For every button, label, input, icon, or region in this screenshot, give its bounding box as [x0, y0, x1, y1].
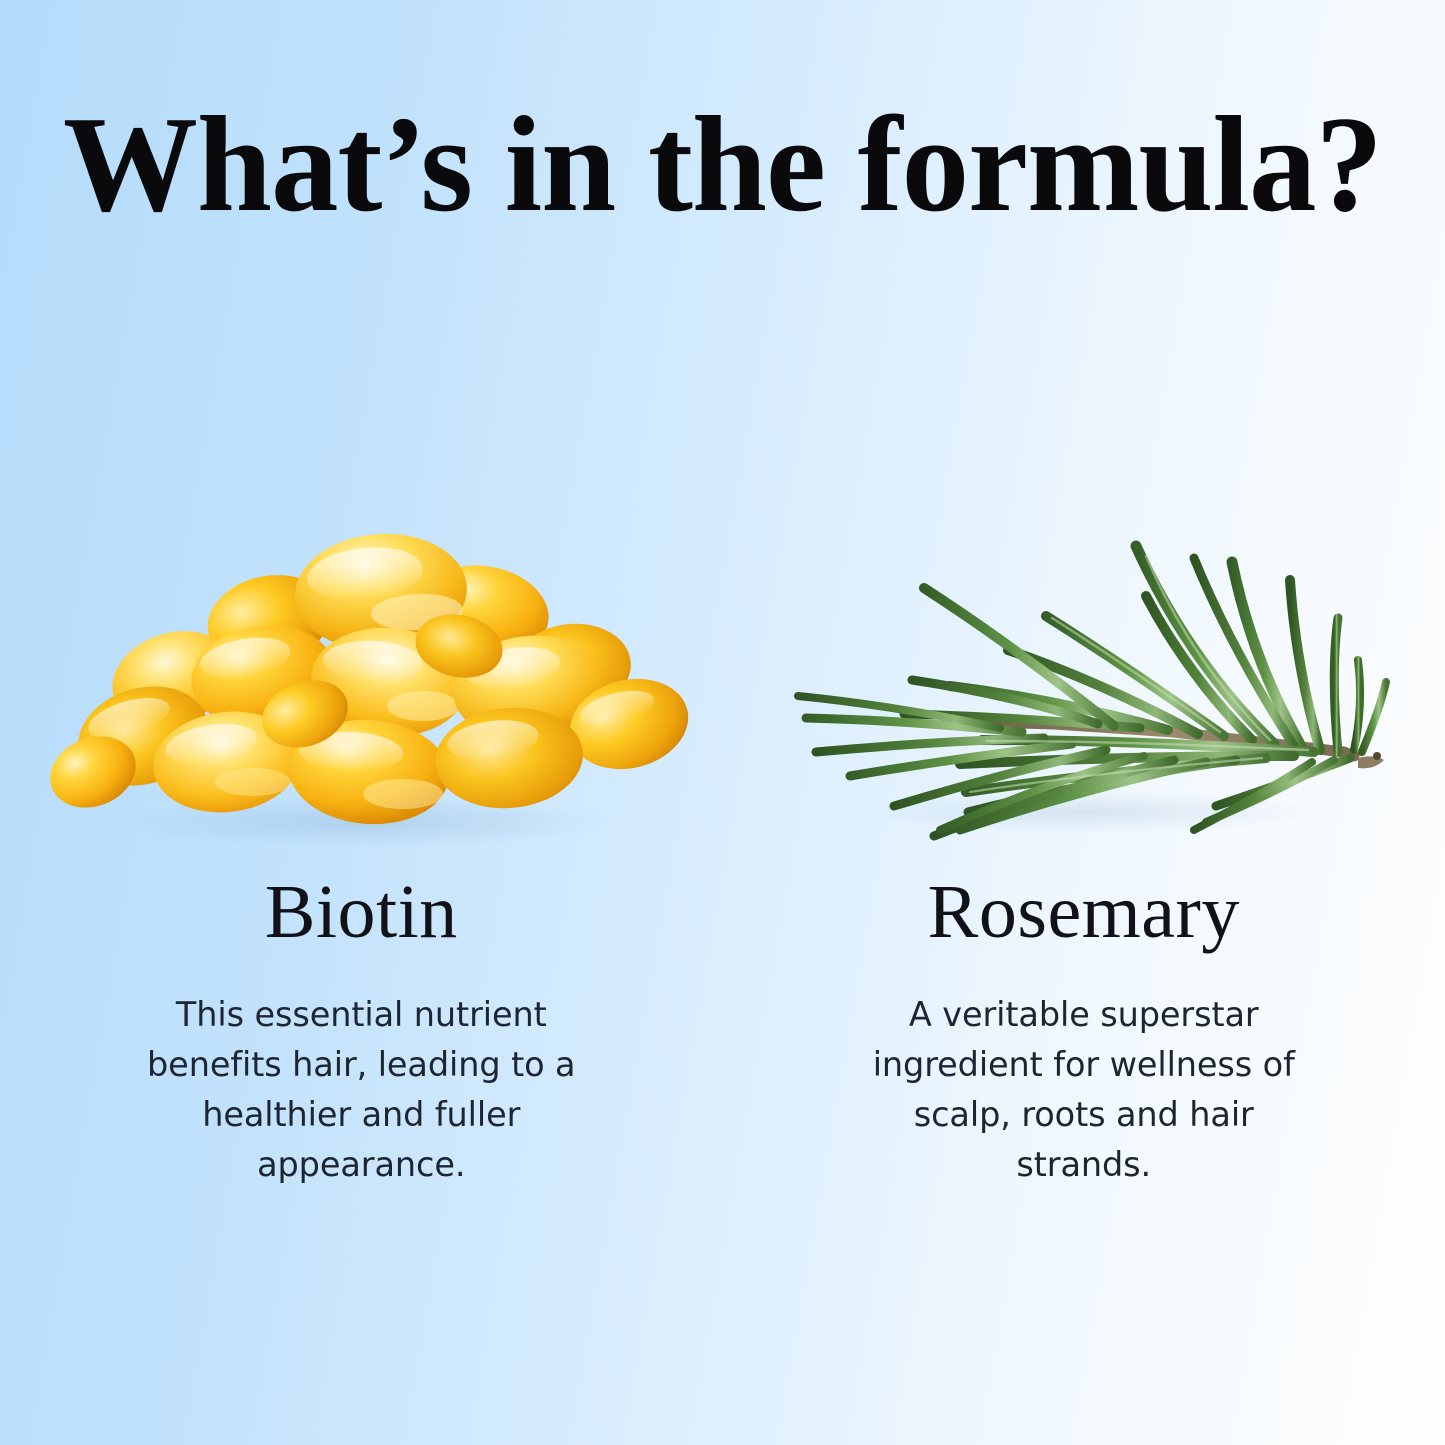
ingredient-name-rosemary: Rosemary	[928, 874, 1240, 950]
ingredient-columns: Biotin This essential nutrient benefits …	[0, 500, 1445, 1190]
biotin-image	[31, 500, 691, 860]
formula-infographic: What’s in the formula?	[0, 0, 1445, 1445]
ingredient-description-rosemary: A veritable superstar ingredient for wel…	[859, 990, 1309, 1190]
ingredient-card-biotin: Biotin This essential nutrient benefits …	[0, 500, 723, 1190]
page-title: What’s in the formula?	[11, 96, 1434, 233]
ingredient-description-biotin: This essential nutrient benefits hair, l…	[141, 990, 581, 1190]
rosemary-sprig-icon	[754, 500, 1414, 860]
ingredient-card-rosemary: Rosemary A veritable superstar ingredien…	[723, 500, 1445, 1190]
rosemary-image	[754, 500, 1414, 860]
biotin-softgel-capsules-pile-icon	[31, 500, 691, 860]
ingredient-name-biotin: Biotin	[265, 874, 458, 950]
